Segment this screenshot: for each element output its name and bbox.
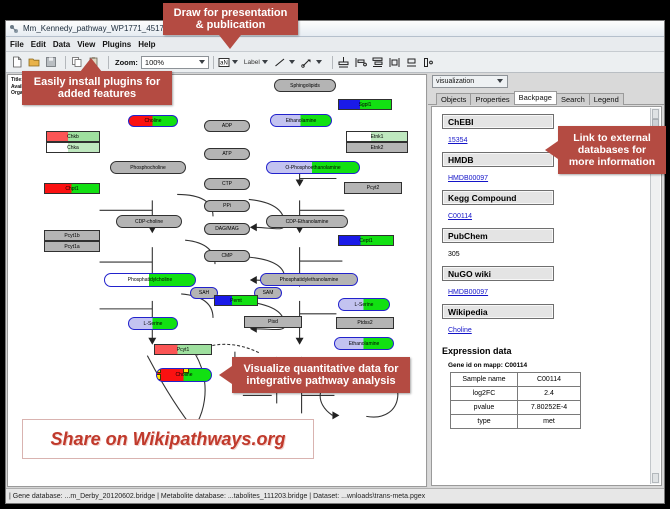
table-row: pvalue7.80252E-4 (451, 401, 581, 415)
database-value-row: 305 (442, 243, 661, 264)
database-value-wikipedia[interactable]: Choline (448, 327, 472, 334)
database-value-pubchem: 305 (448, 251, 460, 258)
metabolite-node-ppi[interactable]: PPi (204, 200, 250, 212)
line-tool[interactable] (274, 57, 297, 68)
node-label: Pcyt1b (64, 233, 79, 239)
toolbar: Zoom: 100% aN Label (6, 52, 664, 73)
node-label: Cept1 (359, 238, 372, 244)
metabolite-node-cdp-ethanolamine[interactable]: CDP-Ethanolamine (266, 215, 348, 228)
label-tool[interactable]: Label (244, 59, 270, 66)
expression-value: C00114 (518, 373, 581, 387)
gene-node-pcyt1a[interactable]: Pcyt1a (44, 241, 100, 252)
metabolite-node-ethanolamine-bottom[interactable]: Ethanolamine (334, 337, 394, 350)
callout-draw: Draw for presentation & publication (163, 3, 298, 35)
node-label: PPi (223, 203, 231, 209)
node-label: L-Serine (355, 302, 374, 308)
callout-share: Share on Wikipathways.org (22, 419, 314, 459)
callout-visualize-arrow-icon (219, 366, 232, 384)
table-row: Sample nameC00114 (451, 373, 581, 387)
expression-key: type (451, 415, 518, 429)
status-bar: | Gene database: ...m_Derby_20120602.bri… (6, 488, 664, 503)
align-center-tool[interactable] (337, 55, 351, 69)
new-icon[interactable] (10, 55, 24, 69)
database-value-row: Choline (442, 319, 661, 340)
tab-properties[interactable]: Properties (470, 93, 514, 105)
same-width-tool[interactable] (388, 55, 402, 69)
status-text: | Gene database: ...m_Derby_20120602.bri… (9, 493, 425, 500)
tab-legend[interactable]: Legend (589, 93, 624, 105)
menu-item-help[interactable]: Help (138, 40, 155, 49)
gene-node-chka[interactable]: Chka (46, 142, 100, 153)
expression-data-heading: Expression data (442, 346, 661, 356)
gene-node-chpt1[interactable]: Chpt1 (44, 183, 100, 194)
toolbar-divider-4 (332, 56, 333, 69)
node-label: SAH (199, 290, 209, 296)
metabolite-node-choline-top[interactable]: Choline (128, 115, 178, 127)
gene-node-ptdss2[interactable]: Ptdss2 (336, 317, 394, 329)
metabolite-node-l-serine-left[interactable]: L-Serine (128, 317, 178, 330)
node-label: Pcyt1a (64, 244, 79, 250)
node-label: Choline (145, 118, 162, 124)
node-label: Ethanolamine (349, 341, 380, 347)
menu-item-file[interactable]: File (10, 40, 24, 49)
node-label: Phosphocholine (130, 165, 166, 171)
node-label: Pcyt2 (367, 185, 380, 191)
node-label: L-Serine (144, 321, 163, 327)
node-label: Chkb (67, 134, 79, 140)
svg-text:aN: aN (220, 60, 228, 66)
database-header-hmdb: HMDB (442, 152, 554, 167)
database-value-kegg-compound[interactable]: C00114 (448, 213, 472, 220)
arrow-tool[interactable] (301, 57, 324, 68)
node-label: CDP-Ethanolamine (286, 219, 329, 225)
callout-link-text: Link to external databases for more info… (569, 132, 655, 168)
gene-node-pcyt2[interactable]: Pcyt2 (344, 182, 402, 194)
expression-table: Sample nameC00114log2FC2.4pvalue7.80252E… (450, 372, 581, 429)
database-value-hmdb[interactable]: HMDB00097 (448, 175, 488, 182)
database-value-nugo-wiki[interactable]: HMDB00097 (448, 289, 488, 296)
database-header-kegg-compound: Kegg Compound (442, 190, 554, 205)
node-label: Pemt (230, 298, 242, 304)
tab-objects[interactable]: Objects (436, 93, 471, 105)
gene-node-pcyt1[interactable]: Pcyt1 (154, 344, 212, 355)
node-label: Sphingolipids (290, 83, 320, 89)
visualization-value: visualization (436, 78, 474, 85)
expression-key: Sample name (451, 373, 518, 387)
callout-link: Link to external databases for more info… (558, 126, 666, 174)
node-label: Phosphatidylethanolamine (280, 277, 339, 283)
title-bar: Mm_Kennedy_pathway_WP1771_45176.gpml - P… (6, 21, 664, 37)
visualization-select[interactable]: visualization (432, 75, 508, 88)
menu-item-data[interactable]: Data (53, 40, 70, 49)
chevron-down-icon-3 (262, 60, 268, 64)
database-value-row: HMDB00097 (442, 281, 661, 302)
database-value-row: C00114 (442, 205, 661, 226)
order-tool[interactable] (422, 55, 436, 69)
open-icon[interactable] (27, 55, 41, 69)
node-label: Ethanolamine (286, 118, 317, 124)
app-icon (9, 24, 19, 34)
node-label: Pisd (268, 319, 278, 325)
scroll-down-arrow[interactable] (652, 473, 659, 483)
callout-link-arrow-icon (545, 141, 558, 159)
callout-plugins-arrow-icon (80, 58, 102, 72)
metabolite-node-ethanolamine-top[interactable]: Ethanolamine (270, 114, 332, 127)
align-left-tool[interactable] (354, 55, 368, 69)
node-label: ATP (222, 151, 231, 157)
node-label: ADP (222, 123, 232, 129)
node-label: CDP-choline (135, 219, 163, 225)
gene-node-sgpl1[interactable]: Sgpl1 (338, 99, 392, 110)
metabolite-node-l-serine-right[interactable]: L-Serine (338, 298, 390, 311)
metabolite-node-phosphatidylethanolamine[interactable]: Phosphatidylethanolamine (260, 273, 358, 286)
metabolite-node-cmp[interactable]: CMP (204, 250, 250, 262)
menu-item-plugins[interactable]: Plugins (102, 40, 131, 49)
metabolite-node-dagmag[interactable]: DAG/MAG (204, 223, 250, 235)
gene-node-pcyt1b[interactable]: Pcyt1b (44, 230, 100, 241)
callout-share-text: Share on Wikipathways.org (51, 429, 286, 450)
metabolite-node-adp[interactable]: ADP (204, 120, 250, 132)
callout-visualize-text: Visualize quantitative data for integrat… (243, 363, 398, 387)
tab-backpage[interactable]: Backpage (514, 91, 557, 104)
gene-node-pemt[interactable]: Pemt (214, 295, 258, 306)
datanode-tool[interactable]: aN (218, 57, 240, 68)
node-label: Etnk2 (371, 145, 384, 151)
menu-item-edit[interactable]: Edit (31, 40, 46, 49)
database-header-pubchem: PubChem (442, 228, 554, 243)
toolbar-divider-3 (213, 56, 214, 69)
chevron-down-icon-5 (316, 60, 322, 64)
database-header-wikipedia: Wikipedia (442, 304, 554, 319)
gene-node-pisd[interactable]: Pisd (244, 316, 302, 328)
metabolite-node-ctp[interactable]: CTP (204, 178, 250, 190)
node-label: Sgpl1 (359, 102, 372, 108)
tab-search[interactable]: Search (556, 93, 590, 105)
metabolite-node-o-phosphoethanolamine[interactable]: O-Phosphoethanolamine (266, 161, 360, 174)
callout-draw-arrow-icon (219, 35, 241, 49)
gene-node-chkb[interactable]: Chkb (46, 131, 100, 142)
database-value-chebi[interactable]: 15354 (448, 137, 467, 144)
database-header-chebi: ChEBI (442, 114, 554, 129)
gene-node-cept1[interactable]: Cept1 (338, 235, 394, 246)
zoom-select[interactable]: 100% (141, 56, 209, 69)
chevron-down-icon (199, 60, 205, 64)
metabolite-node-phosphocholine[interactable]: Phosphocholine (110, 161, 186, 174)
callout-plugins: Easily install plugins for added feature… (22, 71, 172, 105)
visualization-row: visualization (428, 73, 664, 89)
align-top-tool[interactable] (371, 55, 385, 69)
node-label: Etnk1 (371, 134, 384, 140)
callout-plugins-text: Easily install plugins for added feature… (34, 76, 161, 100)
expression-value: 2.4 (518, 387, 581, 401)
metabolite-node-cdp-choline[interactable]: CDP-choline (116, 215, 182, 228)
table-row: typemet (451, 415, 581, 429)
menu-item-view[interactable]: View (77, 40, 95, 49)
node-label: CMP (221, 253, 232, 259)
label-tool-text: Label (244, 59, 260, 66)
node-label: Chka (67, 145, 79, 151)
menu-bar: File Edit Data View Plugins Help (6, 37, 664, 52)
node-label: Phosphatidylcholine (128, 277, 172, 283)
gene-node-etnk2[interactable]: Etnk2 (346, 142, 408, 153)
scroll-up-arrow[interactable] (652, 109, 659, 119)
gene-node-etnk1[interactable]: Etnk1 (346, 131, 408, 142)
chevron-down-icon-visualization (497, 79, 503, 83)
metabolite-node-phosphatidylcholine[interactable]: Phosphatidylcholine (104, 273, 196, 287)
selection-handle[interactable] (183, 368, 189, 373)
selection-handle[interactable] (156, 368, 161, 373)
stack-tool[interactable] (405, 55, 419, 69)
gene-id-line: Gene id on mapp: C00114 (448, 362, 661, 369)
database-header-nugo-wiki: NuGO wiki (442, 266, 554, 281)
zoom-label: Zoom: (115, 58, 138, 67)
node-label: DAG/MAG (215, 226, 239, 232)
expression-key: pvalue (451, 401, 518, 415)
chevron-down-icon-2 (232, 60, 238, 64)
zoom-value: 100% (145, 58, 164, 67)
node-label: Pcyt1 (177, 347, 190, 353)
node-label: SAM (263, 290, 274, 296)
node-label: CTP (222, 181, 232, 187)
toolbar-divider-2 (108, 56, 109, 69)
selection-handle[interactable] (183, 381, 189, 382)
callout-visualize: Visualize quantitative data for integrat… (232, 357, 410, 393)
expression-key: log2FC (451, 387, 518, 401)
table-row: log2FC2.4 (451, 387, 581, 401)
node-label: O-Phosphoethanolamine (285, 165, 340, 171)
save-icon[interactable] (44, 55, 58, 69)
chevron-down-icon-4 (289, 60, 295, 64)
metabolite-node-sphingolipids[interactable]: Sphingolipids (274, 79, 336, 92)
node-label: Ptdss2 (357, 320, 372, 326)
node-label: Chpt1 (65, 186, 78, 192)
expression-value: 7.80252E-4 (518, 401, 581, 415)
metabolite-node-choline-selected[interactable]: Choline (156, 368, 212, 382)
toolbar-divider (65, 56, 66, 69)
metabolite-node-sam[interactable]: SAM (254, 287, 282, 299)
callout-draw-text: Draw for presentation & publication (174, 7, 288, 31)
sidebar-tabs: Objects Properties Backpage Search Legen… (428, 89, 664, 105)
metabolite-node-atp[interactable]: ATP (204, 148, 250, 160)
selection-handle[interactable] (156, 374, 161, 380)
expression-value: met (518, 415, 581, 429)
